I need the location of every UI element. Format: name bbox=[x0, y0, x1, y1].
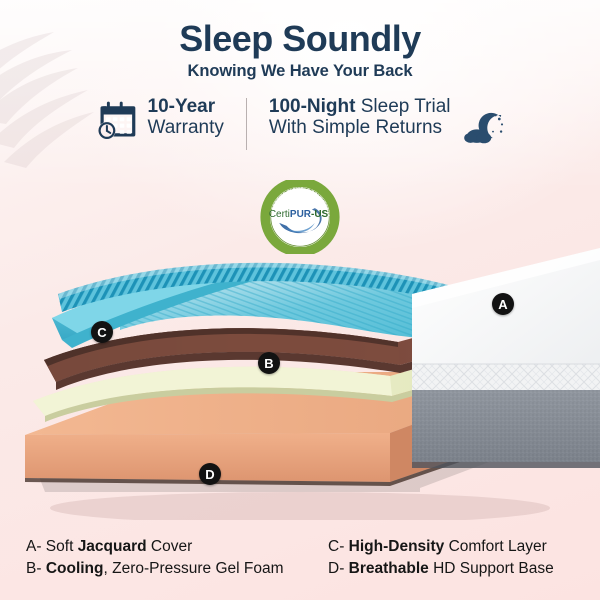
legend-item-a: A- Soft Jacquard Cover bbox=[26, 536, 300, 558]
badge-b[interactable]: B bbox=[258, 352, 280, 374]
legend-d-bold: Breathable bbox=[349, 560, 429, 577]
promo-warranty-rest: Warranty bbox=[148, 117, 224, 138]
legend-d-post: HD Support Base bbox=[429, 560, 554, 577]
legend-item-b: B- Cooling, Zero-Pressure Gel Foam bbox=[26, 558, 300, 580]
page-title: Sleep Soundly bbox=[0, 20, 600, 58]
legend-b-post: , Zero-Pressure Gel Foam bbox=[104, 560, 284, 577]
badge-a[interactable]: A bbox=[492, 293, 514, 315]
legend-c-bold: High-Density bbox=[349, 538, 445, 555]
legend-a-post: Cover bbox=[147, 538, 193, 555]
promo-trial-rest2: With Simple Returns bbox=[269, 117, 442, 138]
legend-a-bold: Jacquard bbox=[78, 538, 147, 555]
legend-item-d: D- Breathable HD Support Base bbox=[328, 558, 574, 580]
promo-row: 10-Year Warranty 100-Night Sleep Trial W… bbox=[0, 96, 600, 150]
promo-warranty-text: 10-Year Warranty bbox=[148, 96, 224, 139]
legend-column-right: C- High-Density Comfort Layer D- Breatha… bbox=[300, 536, 574, 580]
mattress-layer-diagram bbox=[0, 190, 600, 520]
promo-divider bbox=[246, 98, 247, 150]
legend-c-post: Comfort Layer bbox=[444, 538, 547, 555]
promo-trial-rest1: Sleep Trial bbox=[355, 96, 450, 117]
header: Sleep Soundly Knowing We Have Your Back bbox=[0, 20, 600, 81]
promo-trial-bold: 100-Night bbox=[269, 96, 356, 117]
moon-cloud-icon bbox=[462, 110, 506, 146]
legend-a-pre: Soft bbox=[42, 538, 78, 555]
promo-sleep-trial: 100-Night Sleep Trial With Simple Return… bbox=[269, 96, 506, 146]
legend-b-key: B- bbox=[26, 560, 42, 577]
promo-warranty-bold: 10-Year bbox=[148, 96, 216, 117]
legend-column-left: A- Soft Jacquard Cover B- Cooling, Zero-… bbox=[26, 536, 300, 580]
legend-c-key: C- bbox=[328, 538, 344, 555]
badge-d[interactable]: D bbox=[199, 463, 221, 485]
legend-b-bold: Cooling bbox=[46, 560, 104, 577]
promo-warranty: 10-Year Warranty bbox=[95, 96, 224, 142]
promo-sleep-trial-text: 100-Night Sleep Trial With Simple Return… bbox=[269, 96, 451, 139]
legend-a-key: A- bbox=[26, 538, 42, 555]
legend-item-c: C- High-Density Comfort Layer bbox=[328, 536, 574, 558]
legend: A- Soft Jacquard Cover B- Cooling, Zero-… bbox=[0, 536, 600, 580]
legend-d-key: D- bbox=[328, 560, 344, 577]
calendar-clock-icon bbox=[95, 98, 139, 142]
badge-c[interactable]: C bbox=[91, 321, 113, 343]
page-subtitle: Knowing We Have Your Back bbox=[0, 62, 600, 81]
